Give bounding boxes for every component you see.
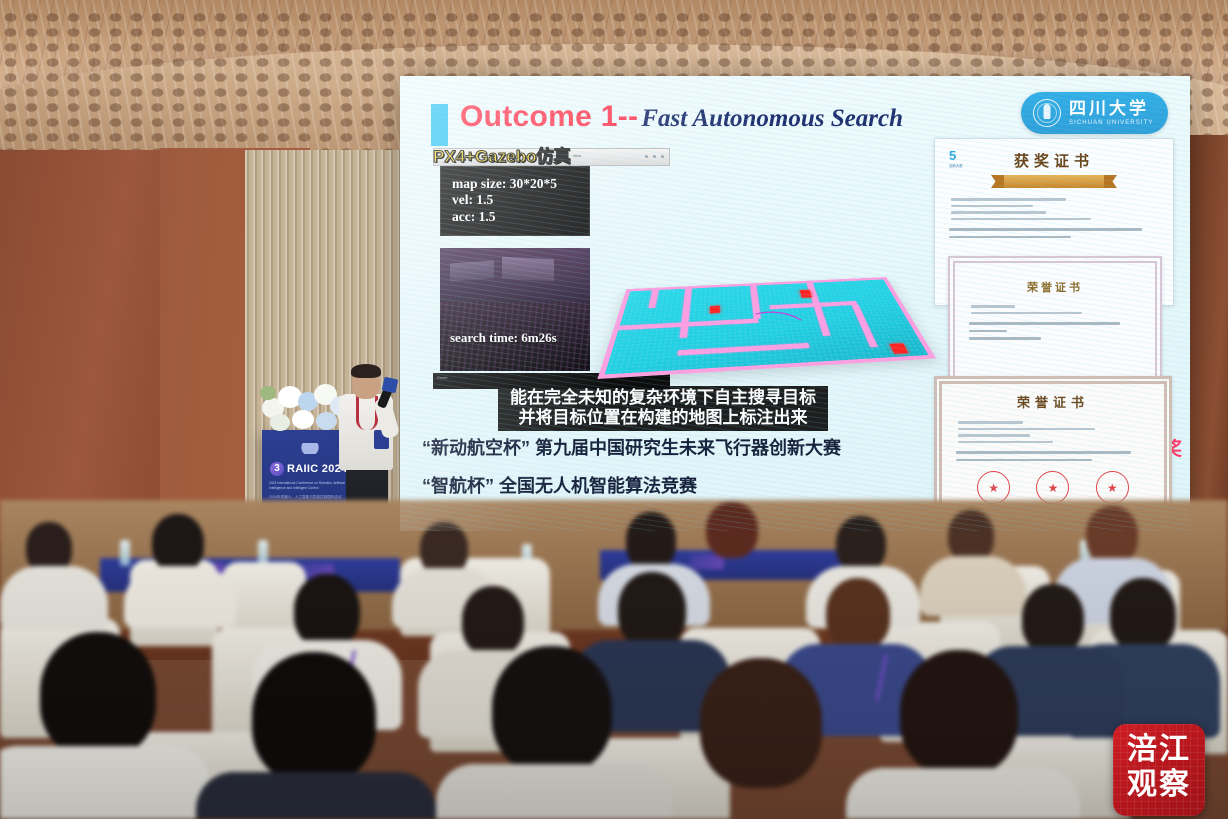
award-name: “智航杯” 全国无人机智能算法竞赛 — [422, 472, 697, 498]
certificate-fields — [971, 305, 1139, 314]
caption-line-1: 能在完全未知的复杂环境下自主搜寻目标 — [504, 388, 822, 408]
attendee-head — [1086, 506, 1138, 564]
conference-photo: Outcome 1-- Fast Autonomous Search File … — [0, 0, 1228, 819]
award-name: “新动航空杯” 第九届中国研究生未来飞行器创新大赛 — [422, 434, 841, 460]
badge-number: 5 — [949, 149, 979, 162]
attendee-shoulders — [124, 566, 236, 628]
attendee-shoulders — [0, 746, 210, 819]
certificate-heading: 荣誉证书 — [955, 279, 1155, 295]
attendee-head — [948, 510, 994, 562]
sim-obstacle-2 — [502, 257, 554, 282]
title-accent-bar — [431, 104, 448, 146]
audience — [0, 500, 1228, 819]
attendee-shoulders — [196, 772, 436, 819]
pointcloud-map — [607, 236, 927, 411]
sichuan-university-logo: 四川大学 SICHUAN UNIVERSITY — [1021, 92, 1168, 134]
logo-name-en: SICHUAN UNIVERSITY — [1069, 120, 1153, 126]
sim-obstacle-1 — [450, 260, 494, 281]
attendee-head — [618, 572, 686, 648]
competition-badge-icon: 5 创新大赛 — [949, 149, 979, 169]
simulation-params-box: map size: 30*20*5 vel: 1.5 acc: 1.5 — [440, 166, 590, 236]
attendee-shoulders — [0, 566, 108, 630]
attendee-head — [152, 514, 204, 572]
attendee-head — [462, 586, 524, 656]
speaker-hair — [351, 364, 381, 378]
projection-screen: Outcome 1-- Fast Autonomous Search File … — [400, 76, 1190, 531]
certificate-heading: 荣誉证书 — [942, 392, 1164, 411]
attendee-head — [1110, 578, 1176, 652]
certificate-body — [969, 322, 1141, 340]
caption-line-2: 并将目标位置在构建的地图上标注出来 — [504, 408, 822, 428]
simulation-video: search time: 6m26s — [440, 248, 590, 371]
attendee-head — [706, 502, 758, 558]
ribbon-icon — [1004, 175, 1104, 188]
broadcaster-watermark: 涪江 观察 — [1113, 724, 1205, 816]
attendee-head — [1022, 584, 1084, 654]
attendee-head — [252, 652, 376, 784]
badge-subtitle: 创新大赛 — [949, 163, 979, 168]
edition-badge: 3 — [270, 462, 284, 476]
search-time-label: search time: 6m26s — [450, 330, 557, 346]
simulation-label: PX4+Gazebo仿真 — [433, 142, 570, 167]
param-acc: acc: 1.5 — [452, 209, 589, 225]
university-seal-icon — [1033, 99, 1061, 127]
certificate-body — [956, 451, 1150, 461]
certificates-panel: 5 创新大赛 获奖证书 荣誉证书 — [928, 138, 1178, 531]
watermark-line-2: 观察 — [1113, 770, 1205, 801]
certificate-fields — [951, 198, 1157, 220]
microphone-flag — [382, 377, 399, 394]
param-vel: vel: 1.5 — [452, 192, 589, 208]
pointcloud-slab — [597, 277, 936, 379]
attendee-head — [826, 578, 890, 650]
slide-caption: 能在完全未知的复杂环境下自主搜寻目标 并将目标位置在构建的地图上标注出来 — [498, 386, 828, 431]
param-map-size: map size: 30*20*5 — [452, 176, 589, 192]
attendee-head — [700, 658, 822, 788]
watermark-line-1: 涪江 — [1113, 724, 1205, 766]
attendee-head — [836, 516, 886, 572]
attendee-head — [626, 512, 676, 570]
logo-name-cn: 四川大学 — [1069, 100, 1153, 117]
certificate-fields — [958, 421, 1148, 443]
gazebo-menu-view: View — [573, 153, 582, 158]
attendee-shoulders — [846, 768, 1080, 819]
attendee-head — [492, 646, 612, 774]
slide-title: Outcome 1-- Fast Autonomous Search — [460, 100, 903, 134]
certificate-body — [949, 228, 1159, 238]
lectern-top-logo-icon — [290, 443, 330, 454]
conference-subtitle: 2024 International Conference on Robotic… — [269, 481, 351, 491]
water-bottle — [120, 540, 130, 566]
certificate-honor-1: 荣誉证书 — [948, 256, 1162, 396]
gazebo-window-buttons — [645, 155, 664, 158]
slide-title-subtitle: Fast Autonomous Search — [641, 105, 903, 133]
attendee-head — [294, 574, 360, 648]
attendee-head — [900, 650, 1018, 776]
attendee-shoulders — [436, 764, 672, 819]
logo-text: 四川大学 SICHUAN UNIVERSITY — [1069, 100, 1153, 126]
attendee-head — [40, 632, 156, 758]
slide-title-main: Outcome 1-- — [460, 100, 638, 134]
attendee-shoulders — [920, 556, 1026, 616]
